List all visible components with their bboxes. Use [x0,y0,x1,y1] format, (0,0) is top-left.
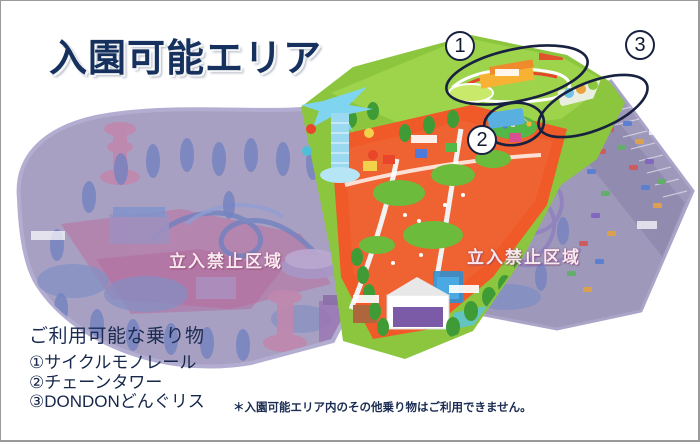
park-map-page: 入園可能エリア [0,0,700,442]
legend-note: ＊入園可能エリア内のその他乗り物はご利用できません。 [233,399,532,415]
map-marker-1[interactable]: 1 [445,31,475,61]
legend: ご利用可能な乗り物 ①サイクルモノレール ②チェーンタワー ③DONDONどんぐ… [29,321,205,412]
restricted-area-label-left: 立入禁止区域 [169,247,283,272]
page-title: 入園可能エリア [49,27,322,82]
legend-item-1: ①サイクルモノレール [29,353,205,373]
map-marker-2[interactable]: 2 [467,125,497,155]
restricted-area-label-right: 立入禁止区域 [467,243,581,268]
map-marker-3[interactable]: 3 [625,30,655,60]
legend-item-3: ③DONDONどんぐリス [29,392,205,412]
legend-heading: ご利用可能な乗り物 [29,321,205,348]
legend-item-2: ②チェーンタワー [29,373,205,393]
